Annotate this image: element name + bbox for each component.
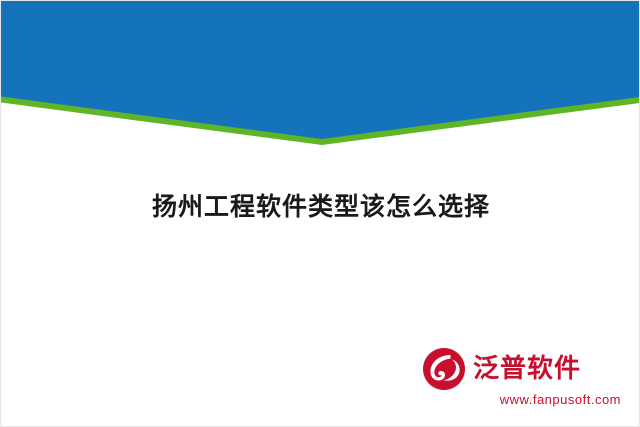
slide-canvas: 扬州工程软件类型该怎么选择 泛普软件 www.fanpusoft.com <box>0 0 640 427</box>
blue-header-band <box>0 0 640 145</box>
brand-url: www.fanpusoft.com <box>500 392 621 407</box>
logo-row: 泛普软件 <box>421 346 581 392</box>
brand-logo: 泛普软件 www.fanpusoft.com <box>421 346 621 408</box>
fanpu-swirl-icon <box>421 346 467 392</box>
page-title: 扬州工程软件类型该怎么选择 <box>1 187 640 223</box>
brand-name: 泛普软件 <box>473 356 581 382</box>
